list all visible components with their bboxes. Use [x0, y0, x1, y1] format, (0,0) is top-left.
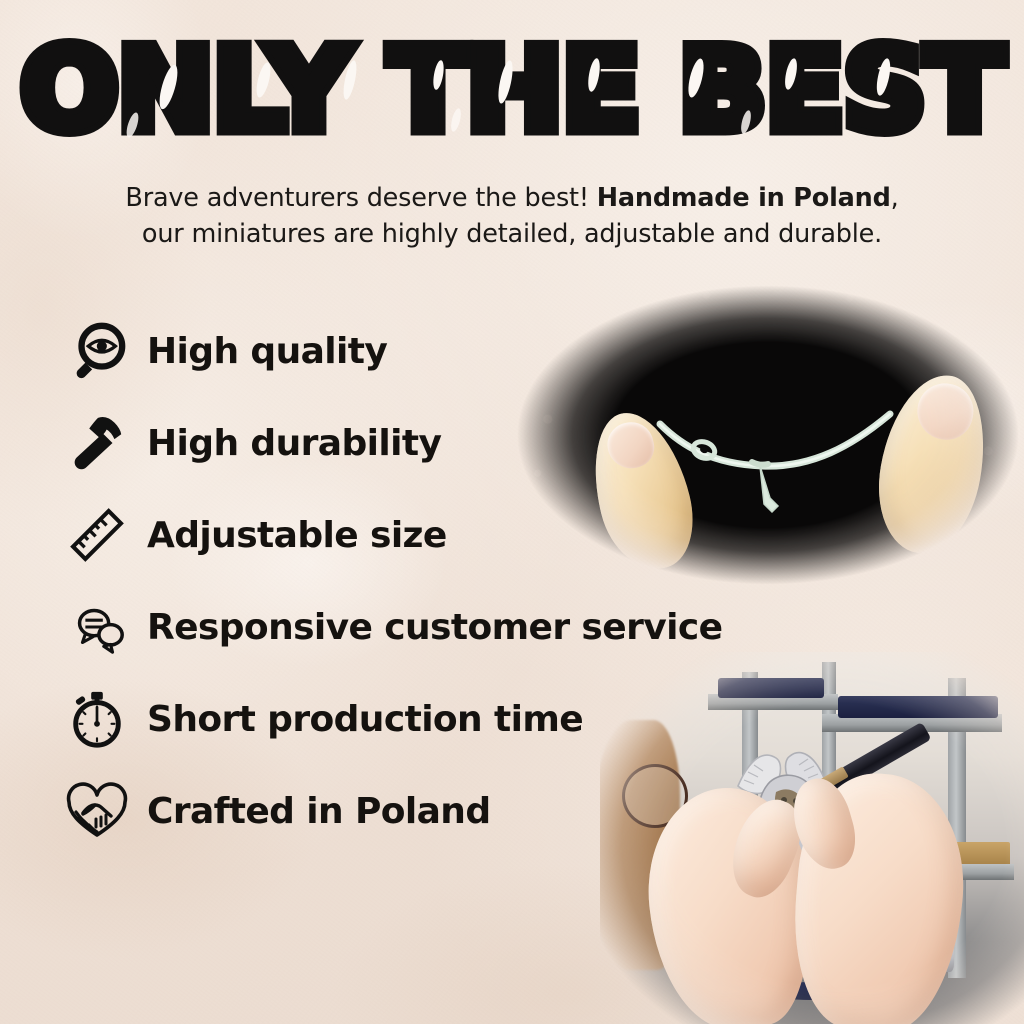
hammer-icon: [58, 407, 136, 479]
page-title: ONLY THE BEST: [21, 34, 1003, 147]
flexing-miniature-photo: [512, 276, 1024, 594]
feature-label: Crafted in Poland: [147, 791, 491, 832]
headline-container: ONLY THE BEST: [0, 34, 1024, 147]
stopwatch-icon: [58, 683, 136, 755]
painting-workshop-photo: [600, 652, 1024, 1024]
miniature-tray-top: [718, 678, 824, 698]
feature-label: Responsive customer service: [147, 607, 722, 648]
torn-edge-mask-top: [512, 276, 1024, 594]
miniature-tray-right: [838, 696, 998, 718]
handshake-heart-icon: [58, 775, 136, 847]
fingernail-left: [603, 418, 659, 474]
subtitle-line-1: Brave adventurers deserve the best! Hand…: [0, 180, 1024, 216]
subtitle-line-2: our miniatures are highly detailed, adju…: [0, 216, 1024, 252]
fingernail-right: [913, 379, 978, 444]
torn-edge-mask-bottom: [600, 652, 1024, 1024]
feature-label: Short production time: [147, 699, 583, 740]
ruler-icon: [58, 499, 136, 571]
feature-label: High durability: [147, 423, 441, 464]
subtitle-comma: ,: [891, 183, 899, 213]
subtitle-bold-text: Handmade in Poland: [597, 183, 891, 213]
poster-canvas: ONLY THE BEST Brave adventurers deserve …: [0, 0, 1024, 1024]
magnifier-eye-icon: [58, 315, 136, 387]
subtitle: Brave adventurers deserve the best! Hand…: [0, 180, 1024, 252]
feature-label: High quality: [147, 331, 387, 372]
speech-bubbles-icon: [58, 591, 136, 663]
feature-label: Adjustable size: [147, 515, 447, 556]
subtitle-plain-text: Brave adventurers deserve the best!: [125, 183, 596, 213]
